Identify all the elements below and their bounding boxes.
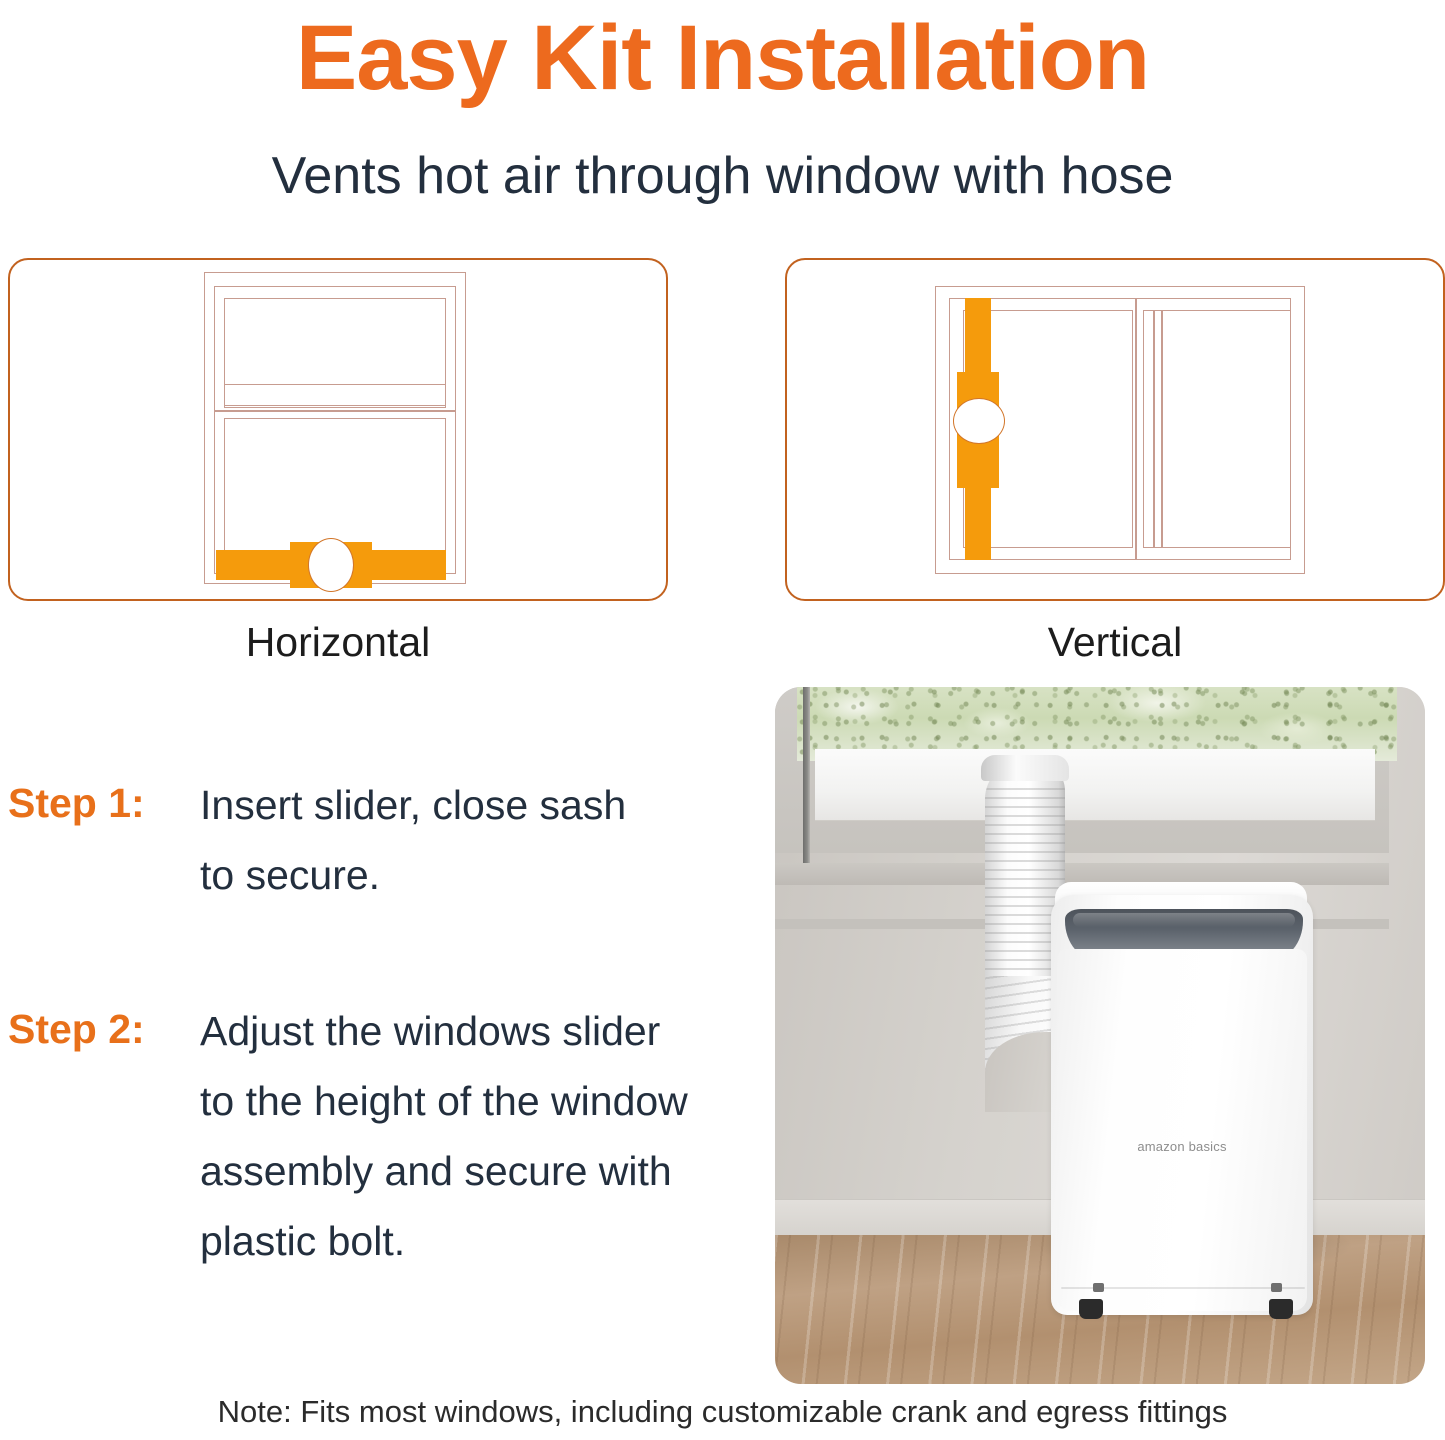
photo-ac-caster-left xyxy=(1079,1299,1103,1319)
step-1-text: Insert slider, close sash to secure. xyxy=(200,770,670,910)
right-pane-stile-b xyxy=(1161,310,1163,548)
hose-port-circle xyxy=(308,538,354,592)
right-pane xyxy=(1143,310,1291,548)
product-photo: amazon basics xyxy=(775,687,1425,1384)
horizontal-window-illustration xyxy=(10,260,666,599)
diagram-label-vertical: Vertical xyxy=(785,618,1445,666)
page-title: Easy Kit Installation xyxy=(0,6,1445,110)
right-pane-stile-a xyxy=(1153,310,1155,548)
photo-ac-front-panel xyxy=(1057,949,1307,1311)
diagram-label-horizontal: Horizontal xyxy=(8,618,668,666)
center-stile xyxy=(1135,298,1137,560)
photo-hose-window-cuff xyxy=(981,755,1069,781)
step-2-text: Adjust the windows slider to the height … xyxy=(200,996,690,1276)
step-2-label: Step 2: xyxy=(8,1003,145,1055)
hose-port-circle xyxy=(953,398,1005,444)
diagram-card-vertical xyxy=(785,258,1445,601)
meeting-rail xyxy=(214,410,456,412)
diagram-card-horizontal xyxy=(8,258,668,601)
photo-ac-base-bolt-right xyxy=(1271,1283,1282,1292)
amazon-basics-logo: amazon basics xyxy=(1057,1139,1307,1154)
step-1-label: Step 1: xyxy=(8,777,145,829)
page-subtitle: Vents hot air through window with hose xyxy=(0,146,1445,206)
photo-ac-caster-right xyxy=(1269,1299,1293,1319)
footer-note: Note: Fits most windows, including custo… xyxy=(0,1392,1445,1432)
photo-window-frame-edge xyxy=(803,687,810,879)
photo-ac-outlet-highlight xyxy=(1073,913,1295,927)
vertical-window-illustration xyxy=(787,260,1443,599)
photo-window-slider-panel xyxy=(815,749,1375,821)
upper-sash-rail xyxy=(224,384,446,406)
photo-ac-base-bolt-left xyxy=(1093,1283,1104,1292)
